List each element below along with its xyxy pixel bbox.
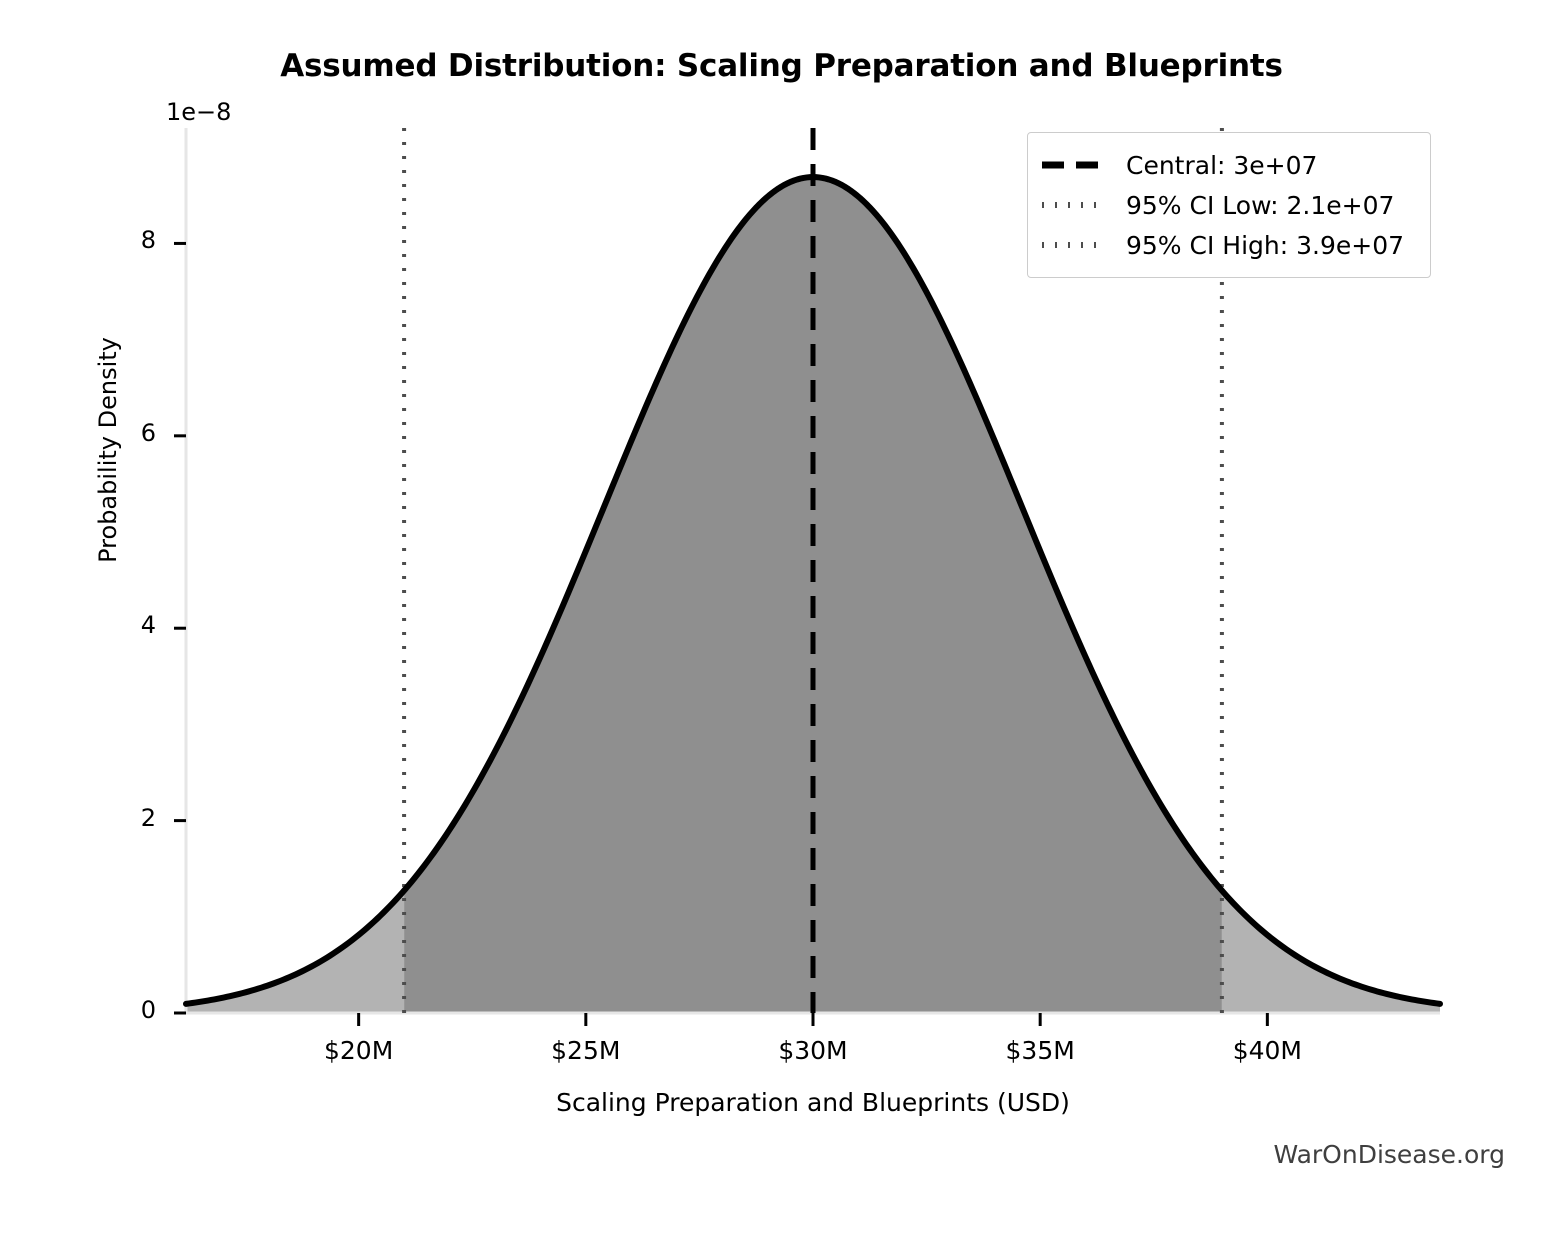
dotted-line-icon (1040, 235, 1106, 255)
chart-legend: Central: 3e+07 95% CI Low: 2.1e+07 95% C… (1027, 132, 1431, 278)
y-tick-label: 2 (96, 804, 156, 832)
y-tick-label: 4 (96, 611, 156, 639)
x-axis-ticks (359, 1013, 1268, 1026)
y-axis-ticks (174, 243, 186, 1013)
x-tick-label: $35M (960, 1036, 1120, 1065)
legend-label-ci-low: 95% CI Low: 2.1e+07 (1126, 191, 1394, 220)
lower-tail-fill (186, 88, 404, 1033)
x-tick-label: $30M (733, 1036, 893, 1065)
legend-label-ci-high: 95% CI High: 3.9e+07 (1126, 231, 1404, 260)
legend-item-ci-low[interactable]: 95% CI Low: 2.1e+07 (1040, 185, 1416, 225)
x-axis-label: Scaling Preparation and Blueprints (USD) (186, 1088, 1440, 1117)
x-tick-label: $20M (279, 1036, 439, 1065)
site-watermark: WarOnDisease.org (1273, 1140, 1505, 1169)
dashed-line-icon (1040, 155, 1106, 175)
x-tick-label: $40M (1187, 1036, 1347, 1065)
y-tick-label: 8 (96, 226, 156, 254)
legend-label-central: Central: 3e+07 (1126, 151, 1317, 180)
y-tick-label: 0 (96, 996, 156, 1024)
dotted-line-icon (1040, 195, 1106, 215)
legend-item-ci-high[interactable]: 95% CI High: 3.9e+07 (1040, 225, 1416, 265)
chart-figure: Assumed Distribution: Scaling Preparatio… (0, 0, 1563, 1234)
x-tick-label: $25M (506, 1036, 666, 1065)
legend-item-central[interactable]: Central: 3e+07 (1040, 145, 1416, 185)
y-tick-label: 6 (96, 419, 156, 447)
